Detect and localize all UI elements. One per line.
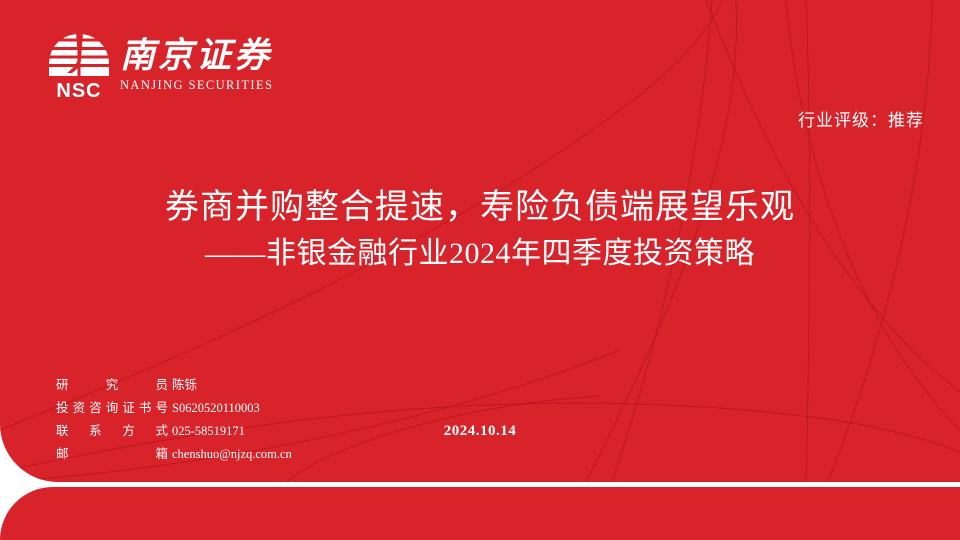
contact-label-char: 咨 — [89, 397, 102, 416]
industry-rating-label: 行业评级：推荐 — [798, 106, 924, 131]
contact-row: 投资咨询证书号S0620520110003 — [56, 397, 292, 420]
contact-label: 投资咨询证书号 — [56, 397, 168, 416]
author-contact-block: 研究员陈铄投资咨询证书号S0620520110003联系方式025-585191… — [56, 374, 292, 466]
brand-wordmark: 南京证券 NANJING SECURITIES — [120, 33, 273, 93]
contact-label-char: 询 — [106, 397, 119, 416]
logo-abbr-text: NSC — [46, 81, 112, 101]
nanjing-securities-dome-icon: NSC — [46, 33, 112, 101]
contact-row: 研究员陈铄 — [56, 374, 292, 397]
contact-label-char: 资 — [73, 397, 86, 416]
bottom-accent-band — [0, 487, 960, 540]
red-background-panel: NSC 南京证券 NANJING SECURITIES 行业评级：推荐 券商并购… — [0, 0, 960, 482]
contact-label-char: 号 — [155, 397, 168, 416]
contact-label-char: 员 — [155, 374, 168, 393]
contact-label-char: 证 — [122, 397, 135, 416]
publish-date: 2024.10.14 — [0, 423, 960, 440]
dome-glyph — [48, 33, 110, 77]
contact-label-char: 研 — [56, 374, 69, 393]
contact-label: 邮箱 — [56, 443, 168, 462]
contact-label-char: 书 — [139, 397, 152, 416]
report-title: 券商并购整合提速，寿险负债端展望乐观 — [0, 186, 960, 230]
contact-label-char: 箱 — [155, 443, 168, 462]
brand-name-cn: 南京证券 — [120, 35, 273, 77]
contact-label-char: 邮 — [56, 443, 69, 462]
title-block: 券商并购整合提速，寿险负债端展望乐观 ——非银金融行业2024年四季度投资策略 — [0, 186, 960, 274]
brand-name-en: NANJING SECURITIES — [120, 77, 273, 93]
report-cover-slide: NSC 南京证券 NANJING SECURITIES 行业评级：推荐 券商并购… — [0, 0, 960, 540]
contact-value: chenshuo@njzq.com.cn — [168, 447, 292, 462]
contact-value: 陈铄 — [168, 374, 197, 393]
contact-label-char: 究 — [106, 374, 119, 393]
contact-label-char: 投 — [56, 397, 69, 416]
brand-logo: NSC 南京证券 NANJING SECURITIES — [46, 33, 273, 101]
contact-label: 研究员 — [56, 374, 168, 393]
contact-row: 邮箱chenshuo@njzq.com.cn — [56, 443, 292, 466]
report-subtitle: ——非银金融行业2024年四季度投资策略 — [0, 234, 960, 274]
contact-value: S0620520110003 — [168, 401, 260, 416]
